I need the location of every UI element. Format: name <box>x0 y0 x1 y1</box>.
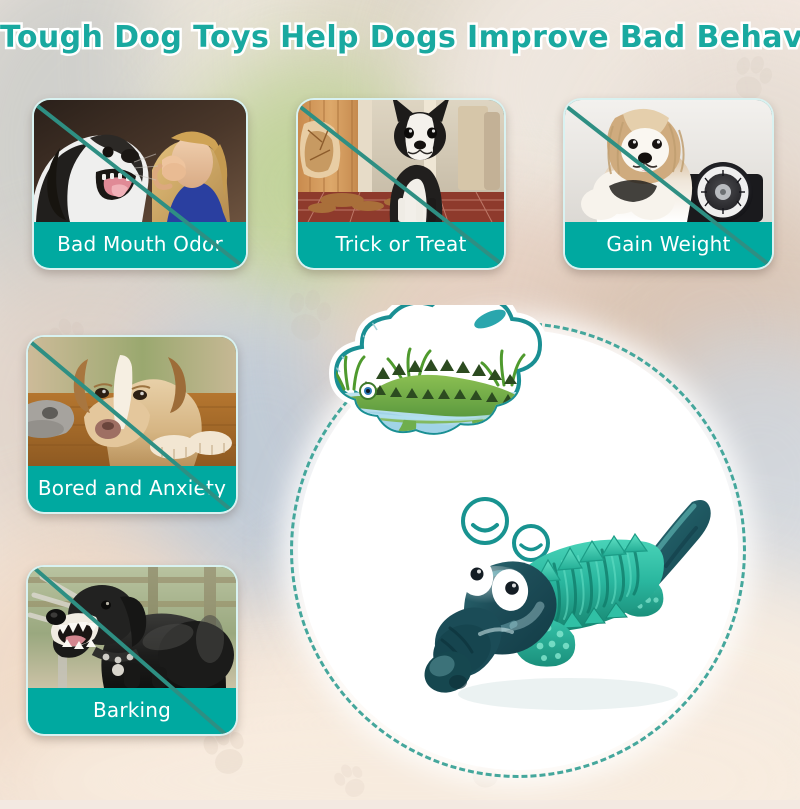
card-photo <box>28 567 236 688</box>
card-label: Barking <box>28 688 236 732</box>
problem-card-gain-weight[interactable]: Gain Weight <box>563 98 774 270</box>
thought-bubble <box>312 305 577 505</box>
photo-gain-weight <box>565 100 772 222</box>
product-crocodile-chew-toy <box>418 478 718 728</box>
photo-bored-and-anxiety <box>28 337 236 466</box>
card-photo <box>28 337 236 466</box>
card-label: Trick or Treat <box>298 222 504 266</box>
problem-card-bad-mouth-odor[interactable]: Bad Mouth Odor <box>32 98 248 270</box>
page-title: Tough Dog Toys Help Dogs Improve Bad Beh… <box>0 20 800 55</box>
card-photo <box>34 100 246 222</box>
problem-card-barking[interactable]: Barking <box>26 565 238 736</box>
problem-card-trick-or-treat[interactable]: Trick or Treat <box>296 98 506 270</box>
card-label: Bored and Anxiety <box>28 466 236 510</box>
photo-bad-mouth-odor <box>34 100 246 222</box>
photo-trick-or-treat <box>298 100 504 222</box>
problem-card-bored-and-anxiety[interactable]: Bored and Anxiety <box>26 335 238 514</box>
card-photo <box>565 100 772 222</box>
card-label: Bad Mouth Odor <box>34 222 246 266</box>
card-label: Gain Weight <box>565 222 772 266</box>
photo-barking <box>28 567 236 688</box>
card-photo <box>298 100 504 222</box>
